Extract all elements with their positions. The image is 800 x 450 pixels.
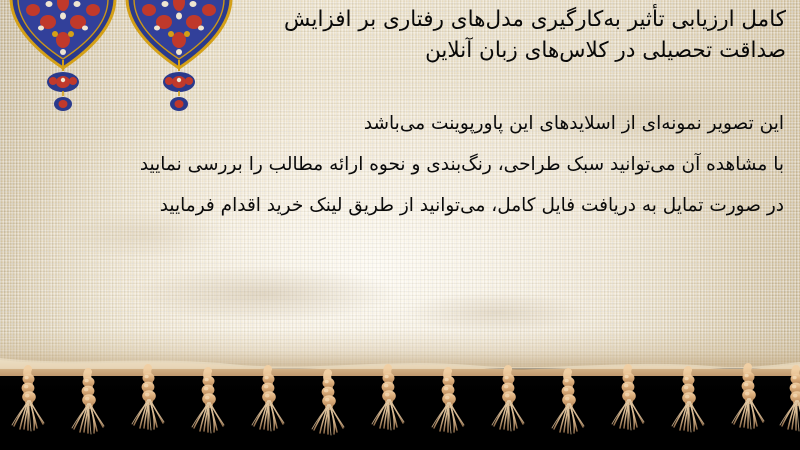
slide-title-line-2: صداقت تحصیلی در کلاس‌های زبان آنلاین <box>186 35 786 66</box>
black-background-band <box>0 368 800 450</box>
slide-body-line-3: در صورت تمایل به دریافت فایل کامل، می‌تو… <box>24 194 784 218</box>
slide-body-line-2: با مشاهده آن می‌توانید سبک طراحی، رنگ‌بن… <box>24 153 784 177</box>
slide-title-line-1: کامل ارزیابی تأثیر به‌کارگیری مدل‌های رف… <box>186 4 786 35</box>
slide-text-layer: کامل ارزیابی تأثیر به‌کارگیری مدل‌های رف… <box>0 0 800 372</box>
slide-body-line-1: این تصویر نمونه‌ای از اسلایدهای این پاور… <box>24 112 784 136</box>
presentation-slide: کامل ارزیابی تأثیر به‌کارگیری مدل‌های رف… <box>0 0 800 450</box>
slide-title: کامل ارزیابی تأثیر به‌کارگیری مدل‌های رف… <box>186 4 786 66</box>
